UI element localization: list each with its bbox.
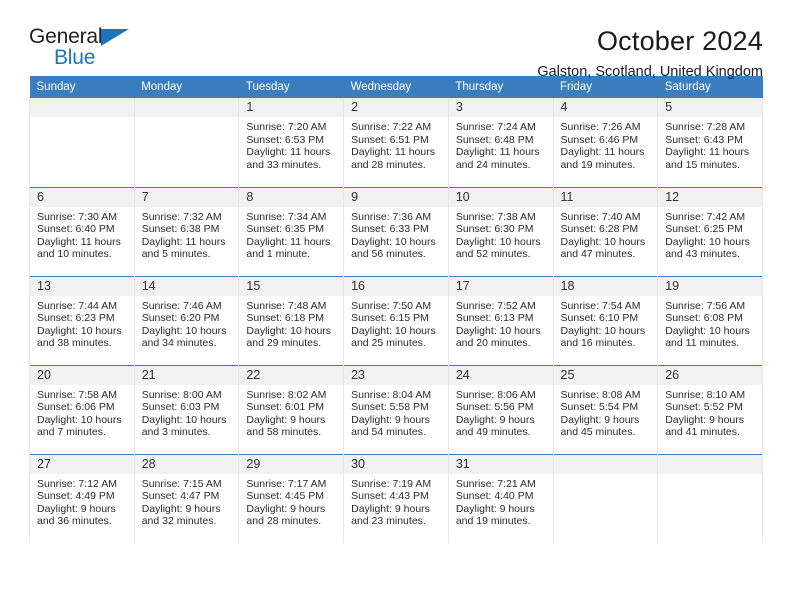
day-details: Sunrise: 7:24 AMSunset: 6:48 PMDaylight:… bbox=[449, 117, 553, 171]
sunrise-text: Sunrise: 8:08 AM bbox=[561, 389, 653, 402]
daylight-text-line1: Daylight: 10 hours bbox=[37, 325, 129, 338]
day-number: 24 bbox=[449, 366, 553, 385]
sunrise-text: Sunrise: 7:42 AM bbox=[665, 211, 757, 224]
calendar-cell-empty bbox=[658, 454, 763, 543]
sunset-text: Sunset: 4:47 PM bbox=[142, 490, 234, 503]
day-number: 26 bbox=[658, 366, 762, 385]
calendar-body: 1Sunrise: 7:20 AMSunset: 6:53 PMDaylight… bbox=[30, 98, 763, 543]
sunset-text: Sunset: 6:40 PM bbox=[37, 223, 129, 236]
sunrise-text: Sunrise: 7:48 AM bbox=[246, 300, 338, 313]
sunset-text: Sunset: 6:46 PM bbox=[561, 134, 653, 147]
weekday-header-sunday: Sunday bbox=[30, 76, 135, 98]
daylight-text-line1: Daylight: 11 hours bbox=[246, 236, 338, 249]
day-number: 9 bbox=[344, 188, 448, 207]
sunset-text: Sunset: 5:54 PM bbox=[561, 401, 653, 414]
calendar-week-row: 13Sunrise: 7:44 AMSunset: 6:23 PMDayligh… bbox=[30, 276, 763, 365]
daylight-text-line1: Daylight: 10 hours bbox=[665, 325, 757, 338]
calendar-day-cell[interactable]: 11Sunrise: 7:40 AMSunset: 6:28 PMDayligh… bbox=[553, 187, 658, 276]
sunset-text: Sunset: 6:23 PM bbox=[37, 312, 129, 325]
generalblue-logo[interactable]: General Blue bbox=[29, 26, 141, 72]
sunrise-text: Sunrise: 7:52 AM bbox=[456, 300, 548, 313]
triangle-icon bbox=[101, 29, 129, 46]
calendar-day-cell[interactable]: 17Sunrise: 7:52 AMSunset: 6:13 PMDayligh… bbox=[448, 276, 553, 365]
sunrise-text: Sunrise: 7:56 AM bbox=[665, 300, 757, 313]
daylight-text-line2: and 19 minutes. bbox=[456, 515, 548, 528]
sunset-text: Sunset: 6:18 PM bbox=[246, 312, 338, 325]
day-details: Sunrise: 7:42 AMSunset: 6:25 PMDaylight:… bbox=[658, 207, 762, 261]
sunrise-text: Sunrise: 7:40 AM bbox=[561, 211, 653, 224]
daylight-text-line2: and 23 minutes. bbox=[351, 515, 443, 528]
day-number: 5 bbox=[658, 98, 762, 117]
daylight-text-line2: and 52 minutes. bbox=[456, 248, 548, 261]
day-details: Sunrise: 7:38 AMSunset: 6:30 PMDaylight:… bbox=[449, 207, 553, 261]
calendar-day-cell[interactable]: 19Sunrise: 7:56 AMSunset: 6:08 PMDayligh… bbox=[658, 276, 763, 365]
calendar-day-cell[interactable]: 29Sunrise: 7:17 AMSunset: 4:45 PMDayligh… bbox=[239, 454, 344, 543]
sunset-text: Sunset: 6:25 PM bbox=[665, 223, 757, 236]
calendar-day-cell[interactable]: 3Sunrise: 7:24 AMSunset: 6:48 PMDaylight… bbox=[448, 98, 553, 187]
page-header: General Blue October 2024 Galston, Scotl… bbox=[29, 0, 763, 76]
sunset-text: Sunset: 6:51 PM bbox=[351, 134, 443, 147]
calendar-day-cell[interactable]: 10Sunrise: 7:38 AMSunset: 6:30 PMDayligh… bbox=[448, 187, 553, 276]
page-subtitle: Galston, Scotland, United Kingdom bbox=[537, 62, 763, 82]
calendar-cell-empty bbox=[134, 98, 239, 187]
day-details: Sunrise: 7:48 AMSunset: 6:18 PMDaylight:… bbox=[239, 296, 343, 350]
sunrise-text: Sunrise: 7:44 AM bbox=[37, 300, 129, 313]
day-number: 30 bbox=[344, 455, 448, 474]
daylight-text-line1: Daylight: 9 hours bbox=[142, 503, 234, 516]
weekday-header-wednesday: Wednesday bbox=[344, 76, 449, 98]
calendar-day-cell[interactable]: 5Sunrise: 7:28 AMSunset: 6:43 PMDaylight… bbox=[658, 98, 763, 187]
calendar-page: General Blue October 2024 Galston, Scotl… bbox=[0, 0, 792, 612]
daylight-text-line1: Daylight: 9 hours bbox=[561, 414, 653, 427]
day-number: 28 bbox=[135, 455, 239, 474]
day-details: Sunrise: 7:50 AMSunset: 6:15 PMDaylight:… bbox=[344, 296, 448, 350]
daylight-text-line2: and 25 minutes. bbox=[351, 337, 443, 350]
daylight-text-line1: Daylight: 9 hours bbox=[456, 414, 548, 427]
sunset-text: Sunset: 5:52 PM bbox=[665, 401, 757, 414]
daylight-text-line2: and 45 minutes. bbox=[561, 426, 653, 439]
sunrise-text: Sunrise: 7:26 AM bbox=[561, 121, 653, 134]
calendar-day-cell[interactable]: 16Sunrise: 7:50 AMSunset: 6:15 PMDayligh… bbox=[344, 276, 449, 365]
daylight-text-line1: Daylight: 9 hours bbox=[665, 414, 757, 427]
daylight-text-line1: Daylight: 11 hours bbox=[456, 146, 548, 159]
calendar-week-row: 6Sunrise: 7:30 AMSunset: 6:40 PMDaylight… bbox=[30, 187, 763, 276]
logo-text-blue: Blue bbox=[54, 47, 141, 68]
sunrise-text: Sunrise: 7:19 AM bbox=[351, 478, 443, 491]
day-number: 23 bbox=[344, 366, 448, 385]
daylight-text-line1: Daylight: 11 hours bbox=[561, 146, 653, 159]
sunrise-text: Sunrise: 7:50 AM bbox=[351, 300, 443, 313]
sunset-text: Sunset: 5:56 PM bbox=[456, 401, 548, 414]
daylight-text-line1: Daylight: 10 hours bbox=[37, 414, 129, 427]
sunrise-text: Sunrise: 7:54 AM bbox=[561, 300, 653, 313]
daylight-text-line2: and 7 minutes. bbox=[37, 426, 129, 439]
day-details: Sunrise: 7:46 AMSunset: 6:20 PMDaylight:… bbox=[135, 296, 239, 350]
daylight-text-line2: and 43 minutes. bbox=[665, 248, 757, 261]
sunset-text: Sunset: 6:35 PM bbox=[246, 223, 338, 236]
day-details: Sunrise: 7:54 AMSunset: 6:10 PMDaylight:… bbox=[554, 296, 658, 350]
daylight-text-line1: Daylight: 9 hours bbox=[351, 414, 443, 427]
daylight-text-line2: and 54 minutes. bbox=[351, 426, 443, 439]
daylight-text-line1: Daylight: 10 hours bbox=[246, 325, 338, 338]
day-details: Sunrise: 7:28 AMSunset: 6:43 PMDaylight:… bbox=[658, 117, 762, 171]
sunrise-text: Sunrise: 7:38 AM bbox=[456, 211, 548, 224]
day-number: 17 bbox=[449, 277, 553, 296]
calendar-day-cell[interactable]: 15Sunrise: 7:48 AMSunset: 6:18 PMDayligh… bbox=[239, 276, 344, 365]
day-number: 6 bbox=[30, 188, 134, 207]
daylight-text-line1: Daylight: 9 hours bbox=[456, 503, 548, 516]
day-number bbox=[658, 455, 762, 474]
day-number bbox=[30, 98, 134, 117]
daylight-text-line1: Daylight: 10 hours bbox=[561, 325, 653, 338]
daylight-text-line2: and 1 minute. bbox=[246, 248, 338, 261]
calendar-week-row: 20Sunrise: 7:58 AMSunset: 6:06 PMDayligh… bbox=[30, 365, 763, 454]
calendar-day-cell[interactable]: 21Sunrise: 8:00 AMSunset: 6:03 PMDayligh… bbox=[134, 365, 239, 454]
day-number: 22 bbox=[239, 366, 343, 385]
calendar-day-cell[interactable]: 2Sunrise: 7:22 AMSunset: 6:51 PMDaylight… bbox=[344, 98, 449, 187]
daylight-text-line2: and 19 minutes. bbox=[561, 159, 653, 172]
daylight-text-line1: Daylight: 9 hours bbox=[351, 503, 443, 516]
day-details: Sunrise: 7:26 AMSunset: 6:46 PMDaylight:… bbox=[554, 117, 658, 171]
daylight-text-line2: and 47 minutes. bbox=[561, 248, 653, 261]
day-details: Sunrise: 7:30 AMSunset: 6:40 PMDaylight:… bbox=[30, 207, 134, 261]
sunrise-text: Sunrise: 7:22 AM bbox=[351, 121, 443, 134]
daylight-text-line2: and 38 minutes. bbox=[37, 337, 129, 350]
daylight-text-line2: and 58 minutes. bbox=[246, 426, 338, 439]
sunrise-text: Sunrise: 8:06 AM bbox=[456, 389, 548, 402]
sunrise-text: Sunrise: 8:10 AM bbox=[665, 389, 757, 402]
day-number: 18 bbox=[554, 277, 658, 296]
daylight-text-line1: Daylight: 11 hours bbox=[142, 236, 234, 249]
day-details: Sunrise: 7:58 AMSunset: 6:06 PMDaylight:… bbox=[30, 385, 134, 439]
daylight-text-line1: Daylight: 10 hours bbox=[456, 325, 548, 338]
sunset-text: Sunset: 4:43 PM bbox=[351, 490, 443, 503]
day-details: Sunrise: 7:20 AMSunset: 6:53 PMDaylight:… bbox=[239, 117, 343, 171]
sunrise-text: Sunrise: 7:34 AM bbox=[246, 211, 338, 224]
weekday-header-monday: Monday bbox=[134, 76, 239, 98]
sunrise-text: Sunrise: 7:32 AM bbox=[142, 211, 234, 224]
day-details: Sunrise: 7:15 AMSunset: 4:47 PMDaylight:… bbox=[135, 474, 239, 528]
sunrise-text: Sunrise: 7:24 AM bbox=[456, 121, 548, 134]
calendar-day-cell[interactable]: 1Sunrise: 7:20 AMSunset: 6:53 PMDaylight… bbox=[239, 98, 344, 187]
daylight-text-line1: Daylight: 11 hours bbox=[351, 146, 443, 159]
day-number: 25 bbox=[554, 366, 658, 385]
day-details: Sunrise: 7:36 AMSunset: 6:33 PMDaylight:… bbox=[344, 207, 448, 261]
sunset-text: Sunset: 4:49 PM bbox=[37, 490, 129, 503]
sunset-text: Sunset: 6:28 PM bbox=[561, 223, 653, 236]
day-details: Sunrise: 8:04 AMSunset: 5:58 PMDaylight:… bbox=[344, 385, 448, 439]
calendar-day-cell[interactable]: 28Sunrise: 7:15 AMSunset: 4:47 PMDayligh… bbox=[134, 454, 239, 543]
calendar-day-cell[interactable]: 18Sunrise: 7:54 AMSunset: 6:10 PMDayligh… bbox=[553, 276, 658, 365]
sunrise-text: Sunrise: 7:30 AM bbox=[37, 211, 129, 224]
day-details: Sunrise: 8:08 AMSunset: 5:54 PMDaylight:… bbox=[554, 385, 658, 439]
day-number: 20 bbox=[30, 366, 134, 385]
sunrise-text: Sunrise: 7:28 AM bbox=[665, 121, 757, 134]
sunrise-text: Sunrise: 7:21 AM bbox=[456, 478, 548, 491]
calendar-day-cell[interactable]: 4Sunrise: 7:26 AMSunset: 6:46 PMDaylight… bbox=[553, 98, 658, 187]
calendar-day-cell[interactable]: 6Sunrise: 7:30 AMSunset: 6:40 PMDaylight… bbox=[30, 187, 135, 276]
daylight-text-line1: Daylight: 9 hours bbox=[246, 503, 338, 516]
day-details: Sunrise: 7:44 AMSunset: 6:23 PMDaylight:… bbox=[30, 296, 134, 350]
day-details: Sunrise: 7:12 AMSunset: 4:49 PMDaylight:… bbox=[30, 474, 134, 528]
sunset-text: Sunset: 6:01 PM bbox=[246, 401, 338, 414]
day-number: 21 bbox=[135, 366, 239, 385]
daylight-text-line2: and 34 minutes. bbox=[142, 337, 234, 350]
sunrise-text: Sunrise: 7:36 AM bbox=[351, 211, 443, 224]
daylight-text-line2: and 29 minutes. bbox=[246, 337, 338, 350]
sunrise-text: Sunrise: 7:46 AM bbox=[142, 300, 234, 313]
calendar-day-cell[interactable]: 20Sunrise: 7:58 AMSunset: 6:06 PMDayligh… bbox=[30, 365, 135, 454]
day-number: 27 bbox=[30, 455, 134, 474]
daylight-text-line1: Daylight: 10 hours bbox=[351, 236, 443, 249]
daylight-text-line2: and 33 minutes. bbox=[246, 159, 338, 172]
daylight-text-line2: and 32 minutes. bbox=[142, 515, 234, 528]
daylight-text-line2: and 15 minutes. bbox=[665, 159, 757, 172]
daylight-text-line2: and 28 minutes. bbox=[351, 159, 443, 172]
day-number: 13 bbox=[30, 277, 134, 296]
day-number: 12 bbox=[658, 188, 762, 207]
page-title: October 2024 bbox=[537, 26, 763, 56]
day-number: 31 bbox=[449, 455, 553, 474]
daylight-text-line1: Daylight: 10 hours bbox=[456, 236, 548, 249]
day-details: Sunrise: 7:21 AMSunset: 4:40 PMDaylight:… bbox=[449, 474, 553, 528]
day-number: 2 bbox=[344, 98, 448, 117]
day-number: 11 bbox=[554, 188, 658, 207]
sunset-text: Sunset: 6:33 PM bbox=[351, 223, 443, 236]
sunset-text: Sunset: 6:20 PM bbox=[142, 312, 234, 325]
calendar-day-cell[interactable]: 8Sunrise: 7:34 AMSunset: 6:35 PMDaylight… bbox=[239, 187, 344, 276]
sunset-text: Sunset: 6:30 PM bbox=[456, 223, 548, 236]
sunrise-text: Sunrise: 7:17 AM bbox=[246, 478, 338, 491]
day-details: Sunrise: 7:56 AMSunset: 6:08 PMDaylight:… bbox=[658, 296, 762, 350]
daylight-text-line2: and 3 minutes. bbox=[142, 426, 234, 439]
daylight-text-line1: Daylight: 11 hours bbox=[37, 236, 129, 249]
calendar-day-cell[interactable]: 26Sunrise: 8:10 AMSunset: 5:52 PMDayligh… bbox=[658, 365, 763, 454]
day-details: Sunrise: 7:32 AMSunset: 6:38 PMDaylight:… bbox=[135, 207, 239, 261]
daylight-text-line1: Daylight: 10 hours bbox=[142, 414, 234, 427]
daylight-text-line2: and 36 minutes. bbox=[37, 515, 129, 528]
calendar-day-cell[interactable]: 23Sunrise: 8:04 AMSunset: 5:58 PMDayligh… bbox=[344, 365, 449, 454]
calendar-cell-empty bbox=[553, 454, 658, 543]
calendar-day-cell[interactable]: 13Sunrise: 7:44 AMSunset: 6:23 PMDayligh… bbox=[30, 276, 135, 365]
sunrise-text: Sunrise: 7:20 AM bbox=[246, 121, 338, 134]
calendar-cell-empty bbox=[30, 98, 135, 187]
day-number: 1 bbox=[239, 98, 343, 117]
day-number: 4 bbox=[554, 98, 658, 117]
sunset-text: Sunset: 6:43 PM bbox=[665, 134, 757, 147]
day-number: 29 bbox=[239, 455, 343, 474]
sunset-text: Sunset: 6:53 PM bbox=[246, 134, 338, 147]
sunset-text: Sunset: 4:40 PM bbox=[456, 490, 548, 503]
calendar-day-cell[interactable]: 12Sunrise: 7:42 AMSunset: 6:25 PMDayligh… bbox=[658, 187, 763, 276]
day-details: Sunrise: 8:02 AMSunset: 6:01 PMDaylight:… bbox=[239, 385, 343, 439]
daylight-text-line1: Daylight: 10 hours bbox=[561, 236, 653, 249]
calendar-day-cell[interactable]: 27Sunrise: 7:12 AMSunset: 4:49 PMDayligh… bbox=[30, 454, 135, 543]
title-block: October 2024 Galston, Scotland, United K… bbox=[537, 26, 763, 82]
sunset-text: Sunset: 5:58 PM bbox=[351, 401, 443, 414]
day-details: Sunrise: 8:06 AMSunset: 5:56 PMDaylight:… bbox=[449, 385, 553, 439]
sunrise-text: Sunrise: 7:15 AM bbox=[142, 478, 234, 491]
sunset-text: Sunset: 6:15 PM bbox=[351, 312, 443, 325]
sunset-text: Sunset: 6:08 PM bbox=[665, 312, 757, 325]
daylight-text-line2: and 28 minutes. bbox=[246, 515, 338, 528]
sunset-text: Sunset: 6:03 PM bbox=[142, 401, 234, 414]
daylight-text-line2: and 16 minutes. bbox=[561, 337, 653, 350]
day-number: 14 bbox=[135, 277, 239, 296]
sunrise-text: Sunrise: 8:04 AM bbox=[351, 389, 443, 402]
sunset-text: Sunset: 6:48 PM bbox=[456, 134, 548, 147]
calendar-day-cell[interactable]: 7Sunrise: 7:32 AMSunset: 6:38 PMDaylight… bbox=[134, 187, 239, 276]
calendar-day-cell[interactable]: 9Sunrise: 7:36 AMSunset: 6:33 PMDaylight… bbox=[344, 187, 449, 276]
sunrise-text: Sunrise: 8:00 AM bbox=[142, 389, 234, 402]
calendar-day-cell[interactable]: 22Sunrise: 8:02 AMSunset: 6:01 PMDayligh… bbox=[239, 365, 344, 454]
daylight-text-line1: Daylight: 10 hours bbox=[142, 325, 234, 338]
calendar-day-cell[interactable]: 25Sunrise: 8:08 AMSunset: 5:54 PMDayligh… bbox=[553, 365, 658, 454]
daylight-text-line1: Daylight: 11 hours bbox=[246, 146, 338, 159]
day-details: Sunrise: 7:34 AMSunset: 6:35 PMDaylight:… bbox=[239, 207, 343, 261]
sunset-text: Sunset: 4:45 PM bbox=[246, 490, 338, 503]
calendar-week-row: 27Sunrise: 7:12 AMSunset: 4:49 PMDayligh… bbox=[30, 454, 763, 543]
day-details: Sunrise: 7:19 AMSunset: 4:43 PMDaylight:… bbox=[344, 474, 448, 528]
day-number: 15 bbox=[239, 277, 343, 296]
daylight-text-line2: and 10 minutes. bbox=[37, 248, 129, 261]
daylight-text-line1: Daylight: 11 hours bbox=[665, 146, 757, 159]
day-details: Sunrise: 7:52 AMSunset: 6:13 PMDaylight:… bbox=[449, 296, 553, 350]
day-details: Sunrise: 7:22 AMSunset: 6:51 PMDaylight:… bbox=[344, 117, 448, 171]
day-details: Sunrise: 8:00 AMSunset: 6:03 PMDaylight:… bbox=[135, 385, 239, 439]
weekday-header-tuesday: Tuesday bbox=[239, 76, 344, 98]
sunrise-text: Sunrise: 7:58 AM bbox=[37, 389, 129, 402]
daylight-text-line2: and 56 minutes. bbox=[351, 248, 443, 261]
daylight-text-line2: and 41 minutes. bbox=[665, 426, 757, 439]
day-number bbox=[135, 98, 239, 117]
day-number: 16 bbox=[344, 277, 448, 296]
day-details: Sunrise: 7:17 AMSunset: 4:45 PMDaylight:… bbox=[239, 474, 343, 528]
sunset-text: Sunset: 6:06 PM bbox=[37, 401, 129, 414]
day-details: Sunrise: 7:40 AMSunset: 6:28 PMDaylight:… bbox=[554, 207, 658, 261]
day-number: 8 bbox=[239, 188, 343, 207]
sunset-text: Sunset: 6:38 PM bbox=[142, 223, 234, 236]
calendar-day-cell[interactable]: 14Sunrise: 7:46 AMSunset: 6:20 PMDayligh… bbox=[134, 276, 239, 365]
day-number bbox=[554, 455, 658, 474]
day-number: 7 bbox=[135, 188, 239, 207]
sunrise-text: Sunrise: 7:12 AM bbox=[37, 478, 129, 491]
sunset-text: Sunset: 6:13 PM bbox=[456, 312, 548, 325]
daylight-text-line1: Daylight: 10 hours bbox=[351, 325, 443, 338]
daylight-text-line1: Daylight: 9 hours bbox=[246, 414, 338, 427]
sunset-text: Sunset: 6:10 PM bbox=[561, 312, 653, 325]
daylight-text-line2: and 49 minutes. bbox=[456, 426, 548, 439]
day-number: 10 bbox=[449, 188, 553, 207]
sunrise-text: Sunrise: 8:02 AM bbox=[246, 389, 338, 402]
calendar-day-cell[interactable]: 30Sunrise: 7:19 AMSunset: 4:43 PMDayligh… bbox=[344, 454, 449, 543]
daylight-text-line1: Daylight: 9 hours bbox=[37, 503, 129, 516]
daylight-text-line2: and 24 minutes. bbox=[456, 159, 548, 172]
daylight-text-line2: and 20 minutes. bbox=[456, 337, 548, 350]
day-number: 19 bbox=[658, 277, 762, 296]
calendar-day-cell[interactable]: 24Sunrise: 8:06 AMSunset: 5:56 PMDayligh… bbox=[448, 365, 553, 454]
day-details: Sunrise: 8:10 AMSunset: 5:52 PMDaylight:… bbox=[658, 385, 762, 439]
daylight-text-line1: Daylight: 10 hours bbox=[665, 236, 757, 249]
daylight-text-line2: and 5 minutes. bbox=[142, 248, 234, 261]
calendar-week-row: 1Sunrise: 7:20 AMSunset: 6:53 PMDaylight… bbox=[30, 98, 763, 187]
calendar-table: SundayMondayTuesdayWednesdayThursdayFrid… bbox=[29, 76, 763, 543]
calendar-day-cell[interactable]: 31Sunrise: 7:21 AMSunset: 4:40 PMDayligh… bbox=[448, 454, 553, 543]
day-number: 3 bbox=[449, 98, 553, 117]
daylight-text-line2: and 11 minutes. bbox=[665, 337, 757, 350]
